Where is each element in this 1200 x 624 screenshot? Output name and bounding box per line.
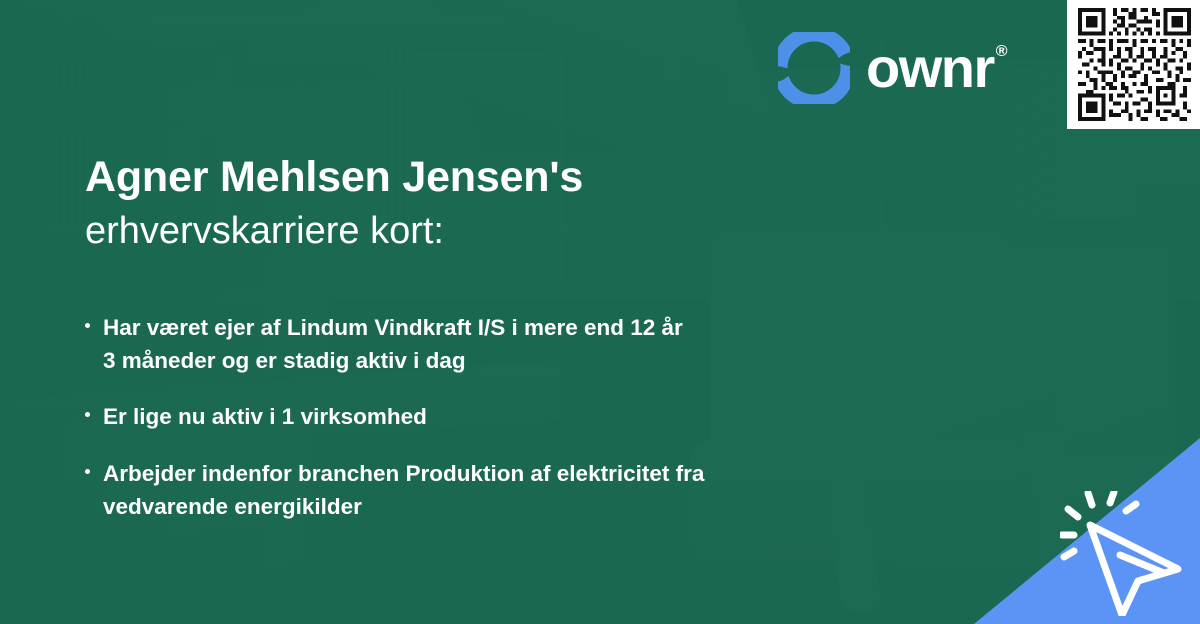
qr-code-panel[interactable] — [1067, 0, 1200, 129]
registered-trademark-symbol: ® — [996, 44, 1006, 60]
list-item: Arbejder indenfor branchen Produktion af… — [85, 458, 875, 523]
ownr-circle-swoosh-icon — [778, 32, 850, 104]
bullet-dot-icon — [85, 412, 90, 417]
list-item: Har været ejer af Lindum Vindkraft I/S i… — [85, 312, 875, 377]
list-item-line-2: 3 måneder og er stadig aktiv i dag — [103, 345, 875, 378]
list-item-line-1: Er lige nu aktiv i 1 virksomhed — [103, 404, 427, 429]
title-line-2: erhvervskarriere kort: — [85, 207, 845, 256]
page-title: Agner Mehlsen Jensen's erhvervskarriere … — [85, 152, 845, 256]
list-item-line-1: Arbejder indenfor branchen Produktion af… — [103, 461, 704, 486]
list-item: Er lige nu aktiv i 1 virksomhed — [85, 401, 875, 434]
qr-code-icon — [1076, 8, 1193, 121]
click-cursor-icon — [1060, 491, 1190, 616]
ownr-logo[interactable]: ownr® — [778, 32, 1006, 104]
ownr-wordmark: ownr® — [866, 40, 1006, 96]
business-card-banner: ownr® — [0, 0, 1200, 624]
career-summary-list: Har været ejer af Lindum Vindkraft I/S i… — [85, 312, 875, 523]
corner-accent — [974, 438, 1200, 624]
title-line-1: Agner Mehlsen Jensen's — [85, 152, 845, 203]
list-item-line-2: vedvarende energikilder — [103, 491, 875, 524]
bullet-dot-icon — [85, 469, 90, 474]
bullet-dot-icon — [85, 323, 90, 328]
list-item-line-1: Har været ejer af Lindum Vindkraft I/S i… — [103, 315, 683, 340]
wordmark-text: ownr — [866, 40, 994, 96]
